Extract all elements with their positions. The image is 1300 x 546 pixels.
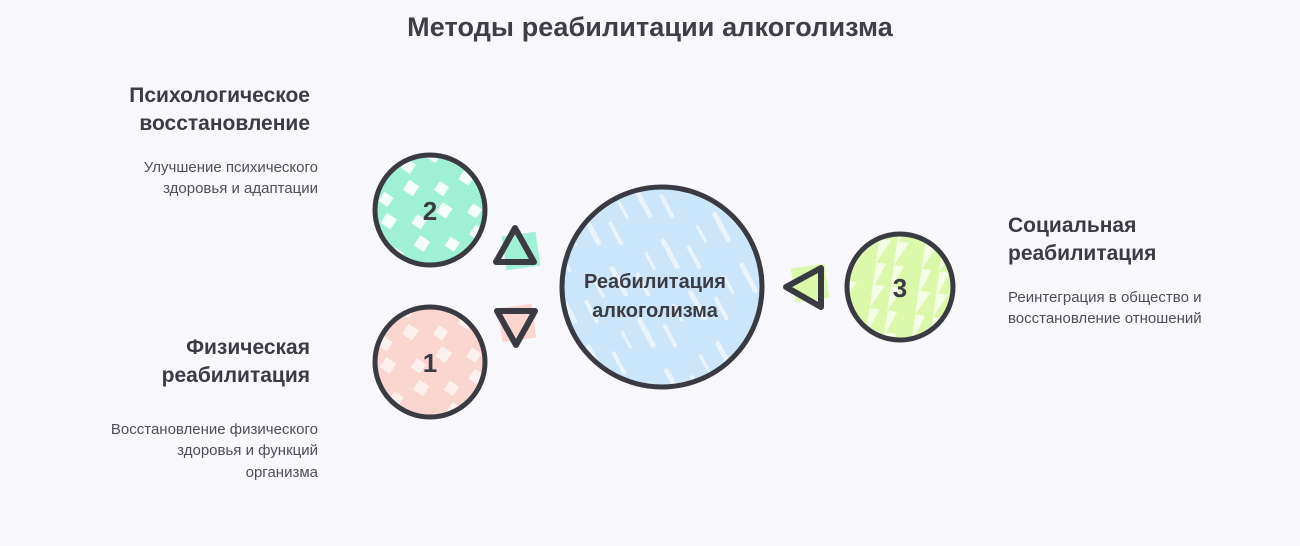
node-1-number: 1 <box>423 348 437 378</box>
center-label-line1: Реабилитация <box>584 271 726 293</box>
node-3-circle[interactable]: 3 <box>847 234 953 340</box>
infographic-canvas: Методы реабилитации алкоголизма Психолог… <box>0 0 1300 546</box>
node-2-circle[interactable]: 2 <box>375 155 485 265</box>
arrow-up-mint-icon <box>496 228 540 270</box>
center-label-line2: алкоголизма <box>592 300 719 322</box>
node-1-circle[interactable]: 1 <box>375 307 485 417</box>
arrow-down-pink-icon <box>497 304 536 345</box>
node-2-number: 2 <box>423 196 437 226</box>
center-circle[interactable]: Реабилитация алкоголизма <box>562 187 762 387</box>
diagram-graphic: 2 1 3 Реабилитация алкоголизма <box>0 0 1300 546</box>
arrow-left-green-icon <box>786 264 829 307</box>
node-3-number: 3 <box>893 273 907 303</box>
